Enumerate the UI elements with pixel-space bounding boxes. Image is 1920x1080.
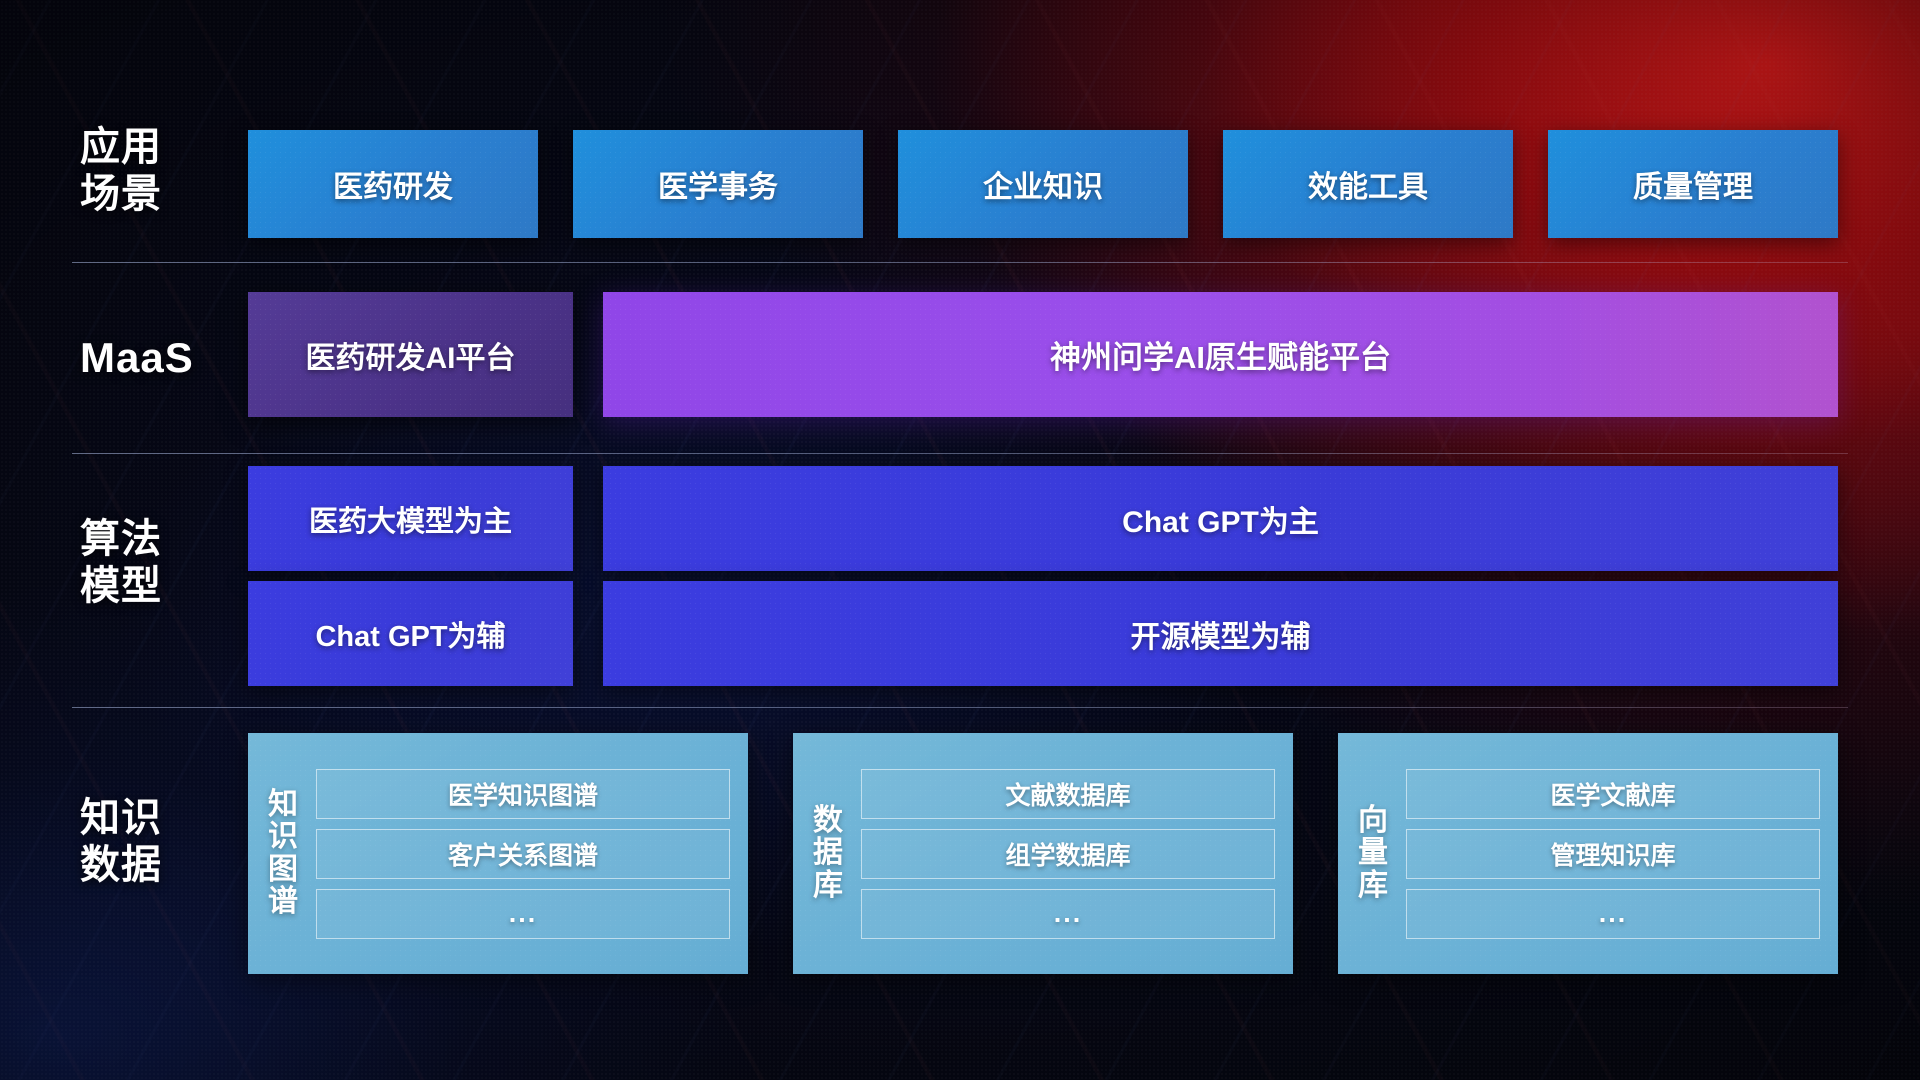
algo-card-opensource-secondary-label: 开源模型为辅 (1131, 612, 1311, 656)
algo-card-opensource-secondary[interactable]: 开源模型为辅 (603, 581, 1838, 686)
knowledge-panel-vector-items: 医学文献库 管理知识库 ... (1406, 769, 1820, 939)
knowledge-panel-vector-title: 向量库 (1352, 805, 1394, 902)
knowledge-item-literature-db[interactable]: 文献数据库 (861, 769, 1275, 819)
row-label-application: 应用 场景 (80, 124, 210, 218)
app-card-enterprise-knowledge[interactable]: 企业知识 (898, 130, 1188, 238)
app-card-enterprise-knowledge-label: 企业知识 (983, 162, 1103, 206)
knowledge-item-medical-graph[interactable]: 医学知识图谱 (316, 769, 730, 819)
knowledge-item-omics-db[interactable]: 组学数据库 (861, 829, 1275, 879)
maas-card-medicine-ai-platform-label: 医药研发AI平台 (306, 333, 516, 377)
row-label-algorithm: 算法 模型 (80, 516, 210, 610)
app-card-quality-management[interactable]: 质量管理 (1548, 130, 1838, 238)
row-label-maas: MaaS (80, 333, 210, 383)
knowledge-panel-database-items: 文献数据库 组学数据库 ... (861, 769, 1275, 939)
row-label-application-line-2: 场景 (80, 171, 210, 218)
algo-card-chatgpt-primary-label: Chat GPT为主 (1122, 497, 1319, 541)
knowledge-panel-database[interactable]: 数据库 文献数据库 组学数据库 ... (793, 733, 1293, 974)
divider-application-maas (72, 262, 1848, 263)
row-label-knowledge: 知识 数据 (80, 795, 210, 889)
knowledge-item-management-knowledge[interactable]: 管理知识库 (1406, 829, 1820, 879)
row-label-maas-line-1: MaaS (80, 333, 210, 383)
knowledge-panel-vector[interactable]: 向量库 医学文献库 管理知识库 ... (1338, 733, 1838, 974)
algo-card-chatgpt-primary[interactable]: Chat GPT为主 (603, 466, 1838, 571)
maas-card-shenzhou-platform-label: 神州问学AI原生赋能平台 (1050, 332, 1391, 377)
knowledge-panel-database-title: 数据库 (807, 805, 849, 902)
row-label-knowledge-line-1: 知识 (80, 795, 210, 842)
algo-card-chatgpt-secondary[interactable]: Chat GPT为辅 (248, 581, 573, 686)
algo-card-chatgpt-secondary-label: Chat GPT为辅 (315, 613, 505, 655)
architecture-diagram: 应用 场景 医药研发 医学事务 企业知识 效能工具 质量管理 MaaS 医药研发… (0, 0, 1920, 1080)
app-card-quality-management-label: 质量管理 (1633, 162, 1753, 206)
row-label-algorithm-line-2: 模型 (80, 563, 210, 610)
knowledge-item-database-more[interactable]: ... (861, 889, 1275, 939)
divider-algorithm-knowledge (72, 707, 1848, 708)
row-label-algorithm-line-1: 算法 (80, 516, 210, 563)
maas-card-shenzhou-platform[interactable]: 神州问学AI原生赋能平台 (603, 292, 1838, 417)
app-card-medical-affairs-label: 医学事务 (658, 162, 778, 206)
knowledge-panel-graph[interactable]: 知识图谱 医学知识图谱 客户关系图谱 ... (248, 733, 748, 974)
knowledge-item-graph-more[interactable]: ... (316, 889, 730, 939)
algo-card-medicine-llm-primary[interactable]: 医药大模型为主 (248, 466, 573, 571)
knowledge-panel-graph-title: 知识图谱 (262, 789, 304, 919)
app-card-medicine-rd-label: 医药研发 (333, 162, 453, 206)
app-card-medical-affairs[interactable]: 医学事务 (573, 130, 863, 238)
app-card-efficiency-tools[interactable]: 效能工具 (1223, 130, 1513, 238)
knowledge-item-medical-literature[interactable]: 医学文献库 (1406, 769, 1820, 819)
knowledge-item-customer-graph[interactable]: 客户关系图谱 (316, 829, 730, 879)
divider-maas-algorithm (72, 453, 1848, 454)
algo-card-medicine-llm-primary-label: 医药大模型为主 (309, 498, 512, 540)
app-card-medicine-rd[interactable]: 医药研发 (248, 130, 538, 238)
app-card-efficiency-tools-label: 效能工具 (1308, 162, 1428, 206)
maas-card-medicine-ai-platform[interactable]: 医药研发AI平台 (248, 292, 573, 417)
row-label-knowledge-line-2: 数据 (80, 842, 210, 889)
knowledge-item-vector-more[interactable]: ... (1406, 889, 1820, 939)
row-label-application-line-1: 应用 (80, 124, 210, 171)
knowledge-panel-graph-items: 医学知识图谱 客户关系图谱 ... (316, 769, 730, 939)
